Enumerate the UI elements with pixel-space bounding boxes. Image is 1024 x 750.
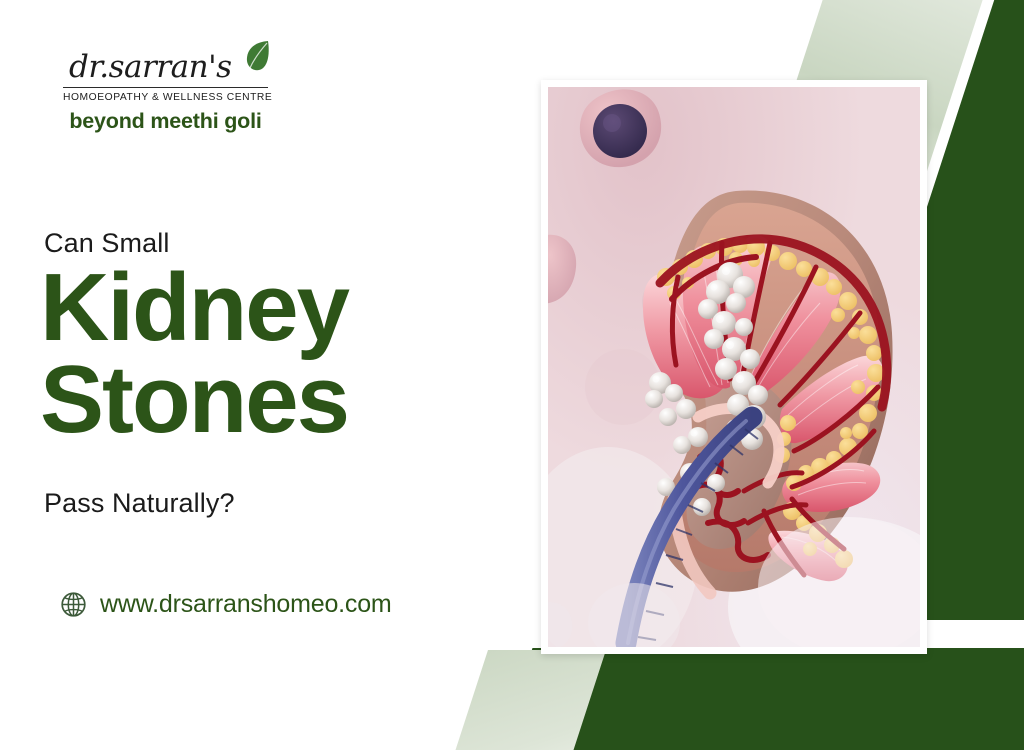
decor-sage-band-bottom xyxy=(436,650,606,750)
headline-line-1: Kidney xyxy=(40,262,348,354)
headline-main: Kidney Stones xyxy=(40,262,348,446)
brand-script-name: dr.sarran's xyxy=(63,52,268,83)
globe-icon xyxy=(60,591,87,618)
leaf-icon xyxy=(244,40,270,72)
website-link[interactable]: www.drsarranshomeo.com xyxy=(60,590,392,619)
brand-logo: dr.sarran's HOMOEOPATHY & WELLNESS CENTR… xyxy=(63,52,268,134)
headline-line-2: Stones xyxy=(40,354,348,446)
kidney-illustration xyxy=(548,87,920,647)
kidney-illustration-graphic xyxy=(548,87,920,647)
headline-tail: Pass Naturally? xyxy=(44,488,235,519)
brand-divider xyxy=(63,87,268,88)
website-url-text: www.drsarranshomeo.com xyxy=(100,590,392,619)
decor-green-shape-bottom xyxy=(468,648,1024,750)
poster-canvas: dr.sarran's HOMOEOPATHY & WELLNESS CENTR… xyxy=(0,0,1024,750)
brand-subtitle: HOMOEOPATHY & WELLNESS CENTRE xyxy=(63,92,268,103)
kidney-photo-card xyxy=(541,80,927,654)
brand-tagline: beyond meethi goli xyxy=(63,109,268,134)
